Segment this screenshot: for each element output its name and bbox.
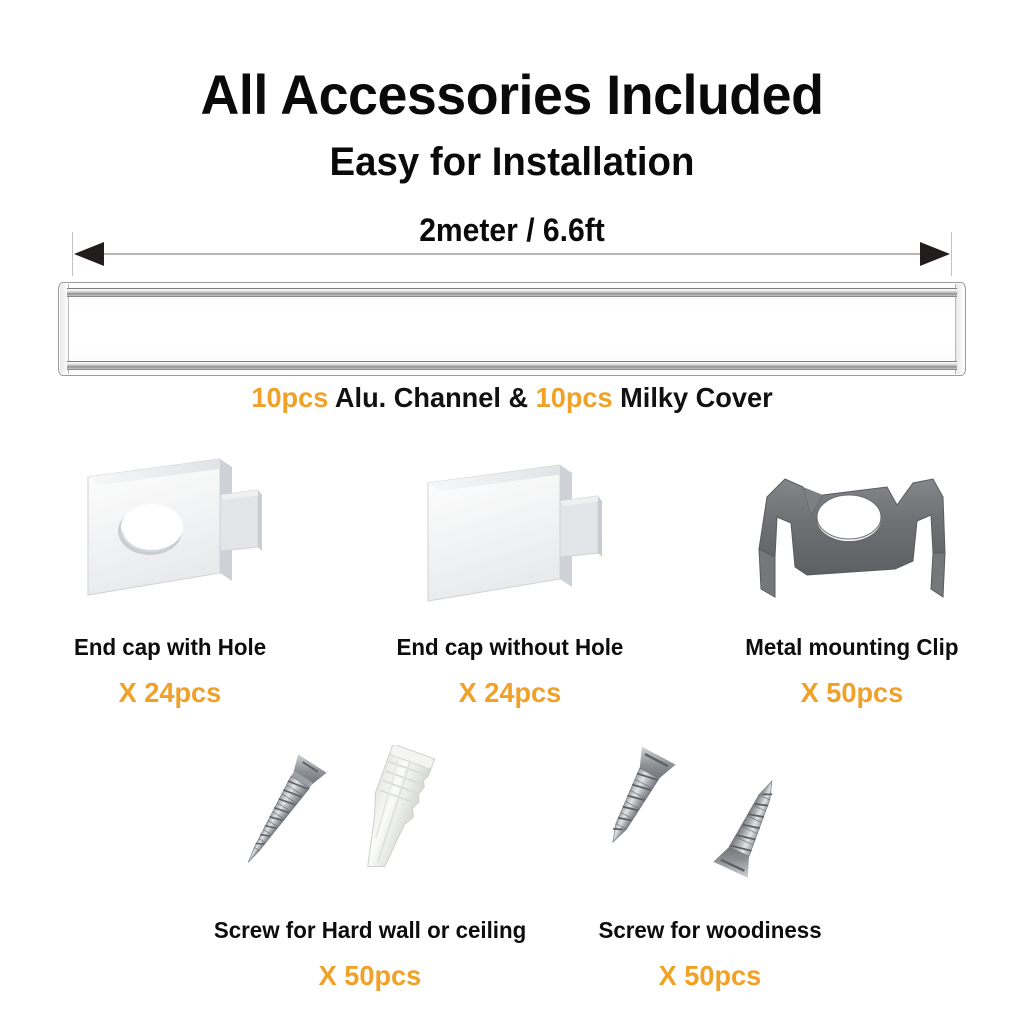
page-subtitle: Easy for Installation [20,140,1003,185]
accessory-item-screw-hard-wall: Screw for Hard wall or ceiling X 50pcs [180,735,560,992]
channel-band-top [67,288,957,297]
item-label: Screw for woodiness [598,917,821,944]
accessory-row-bottom: Screw for Hard wall or ceiling X 50pcs [0,735,1024,992]
item-quantity: X 50pcs [319,960,422,992]
accessory-row-top: End cap with Hole X 24pcs End cap withou… [0,452,1024,709]
item-quantity: X 24pcs [459,677,562,709]
channel-qty-2: 10pcs [536,382,613,413]
item-label: Screw for Hard wall or ceiling [214,917,526,944]
accessory-item-end-cap-without-hole: End cap without Hole X 24pcs [340,452,680,709]
wood-screws-icon [560,735,860,905]
accessory-item-metal-mounting-clip: Metal mounting Clip X 50pcs [680,452,1024,709]
item-label: Metal mounting Clip [745,634,958,661]
alu-channel-illustration [58,282,966,376]
row-bottom-spacer [0,735,180,992]
page-title: All Accessories Included [20,62,1003,127]
item-label: End cap without Hole [397,634,624,661]
dimension-tick-left [72,232,73,276]
item-label: End cap with Hole [74,634,266,661]
arrow-right-icon [920,242,950,266]
screw-and-wall-plug-icon [180,735,560,905]
dimension-line [86,253,938,255]
item-quantity: X 24pcs [119,677,222,709]
accessory-item-screw-woodiness: Screw for woodiness X 50pcs [560,735,860,992]
arrow-left-icon [74,242,104,266]
end-cap-with-hole-icon [0,452,340,622]
channel-caption: 10pcs Alu. Channel & 10pcs Milky Cover [15,382,1008,414]
channel-text-1: Alu. Channel & [335,382,528,413]
channel-band-bottom [67,361,957,370]
item-quantity: X 50pcs [659,960,762,992]
metal-mounting-clip-icon [680,452,1024,622]
item-quantity: X 50pcs [801,677,904,709]
end-cap-without-hole-icon [340,452,680,622]
channel-qty-1: 10pcs [251,382,328,413]
channel-text-2: Milky Cover [620,382,772,413]
accessory-item-end-cap-with-hole: End cap with Hole X 24pcs [0,452,340,709]
dimension-arrow [72,232,952,276]
dimension-tick-right [951,232,952,276]
